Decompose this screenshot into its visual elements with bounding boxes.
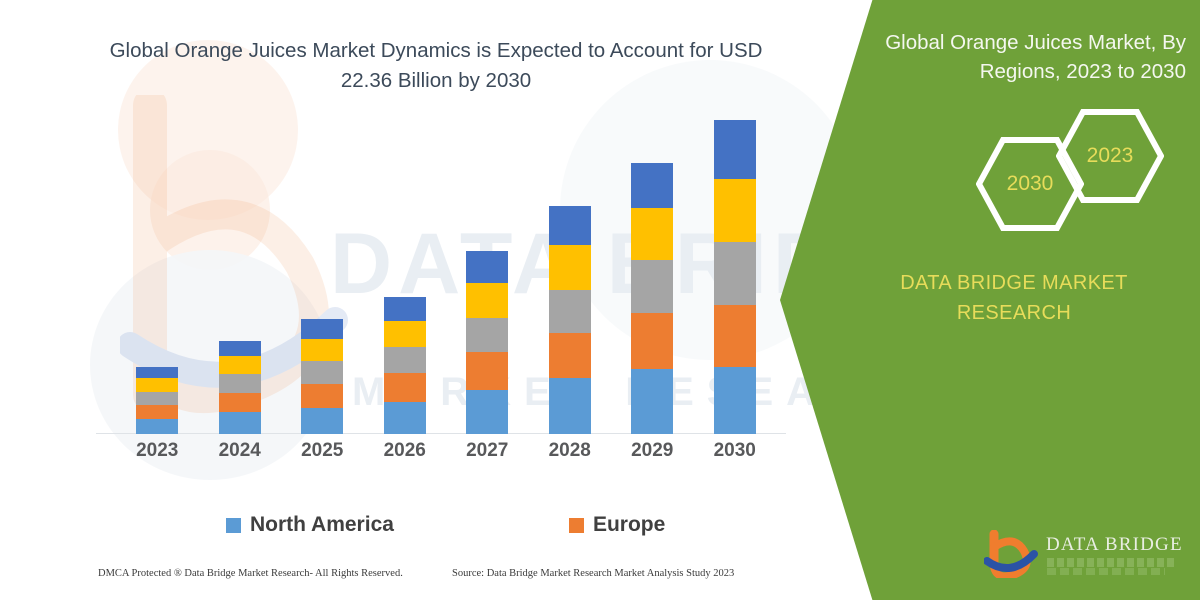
- bar-segment: [466, 251, 508, 282]
- stacked-bar-chart: 20232024202520262027202820292030: [96, 120, 786, 480]
- bar-segment: [136, 392, 178, 405]
- panel-title: Global Orange Juices Market, By Regions,…: [856, 28, 1186, 86]
- bar-group-2030: [694, 120, 777, 434]
- bar-group-2029: [611, 120, 694, 434]
- year-hexagon-group: 2030 2023: [940, 108, 1170, 223]
- chart-x-axis-labels: 20232024202520262027202820292030: [116, 440, 776, 468]
- x-axis-label-2026: 2026: [364, 440, 447, 468]
- bar-segment: [136, 405, 178, 419]
- bar-segment: [301, 319, 343, 339]
- bar-segment: [466, 352, 508, 389]
- bar-segment: [549, 245, 591, 289]
- footer-source: Source: Data Bridge Market Research Mark…: [452, 568, 734, 579]
- stacked-bar[interactable]: [301, 319, 343, 434]
- panel-brand-name: DATA BRIDGE MARKET RESEARCH: [874, 268, 1154, 328]
- panel-brand-line-1: DATA BRIDGE MARKET: [874, 268, 1154, 298]
- bar-segment: [549, 333, 591, 378]
- stacked-bar[interactable]: [384, 297, 426, 434]
- bar-segment: [631, 313, 673, 370]
- x-axis-label-2028: 2028: [529, 440, 612, 468]
- bar-segment: [631, 208, 673, 261]
- bar-segment: [714, 179, 756, 243]
- legend-label: North America: [250, 513, 394, 537]
- bar-segment: [384, 321, 426, 347]
- bar-segment: [219, 374, 261, 392]
- bar-group-2025: [281, 120, 364, 434]
- bar-segment: [714, 120, 756, 179]
- legend-swatch: [226, 518, 241, 533]
- bar-segment: [219, 412, 261, 434]
- legend-label: Europe: [593, 513, 665, 537]
- logo-wordmark: DATA BRIDGE: [1046, 534, 1183, 556]
- bar-segment: [384, 373, 426, 401]
- bar-segment: [301, 384, 343, 408]
- bar-segment: [466, 283, 508, 318]
- bar-segment: [136, 367, 178, 378]
- stacked-bar[interactable]: [136, 367, 178, 434]
- bar-segment: [136, 419, 178, 434]
- stacked-bar[interactable]: [714, 120, 756, 434]
- bar-segment: [631, 260, 673, 313]
- footer-copyright: DMCA Protected ® Data Bridge Market Rese…: [98, 568, 403, 579]
- bar-group-2028: [529, 120, 612, 434]
- legend-item[interactable]: Europe: [569, 513, 665, 537]
- bar-segment: [219, 356, 261, 374]
- bar-segment: [631, 163, 673, 207]
- bar-segment: [219, 341, 261, 356]
- bar-segment: [384, 297, 426, 321]
- stacked-bar[interactable]: [631, 163, 673, 434]
- bar-segment: [631, 369, 673, 434]
- bar-group-2026: [364, 120, 447, 434]
- hexagon-label-2030: 2030: [1007, 172, 1054, 196]
- x-axis-label-2025: 2025: [281, 440, 364, 468]
- bar-segment: [301, 408, 343, 434]
- legend-item[interactable]: North America: [226, 513, 394, 537]
- stacked-bar[interactable]: [219, 341, 261, 434]
- logo-tagline-line-1: [1047, 558, 1177, 567]
- legend-swatch: [569, 518, 584, 533]
- bar-segment: [384, 402, 426, 434]
- bar-group-2024: [199, 120, 282, 434]
- page-title: Global Orange Juices Market Dynamics is …: [96, 36, 776, 95]
- chart-legend: North AmericaEurope: [96, 508, 786, 542]
- bar-group-2023: [116, 120, 199, 434]
- hexagon-badge-2023: 2023: [1056, 108, 1164, 204]
- panel-brand-line-2: RESEARCH: [874, 298, 1154, 328]
- data-bridge-logo: DATA BRIDGE: [984, 528, 1184, 580]
- bar-segment: [301, 339, 343, 361]
- stacked-bar[interactable]: [549, 206, 591, 434]
- bar-segment: [136, 378, 178, 391]
- bar-segment: [549, 206, 591, 245]
- bar-segment: [714, 242, 756, 305]
- chart-bars: [116, 120, 776, 434]
- right-green-panel: Global Orange Juices Market, By Regions,…: [780, 0, 1200, 600]
- infographic-page: DATA BRIDGE MARKET RESEARCH Global Orang…: [0, 0, 1200, 600]
- logo-tagline-line-2: [1047, 568, 1165, 575]
- data-bridge-logo-icon: [984, 530, 1040, 578]
- bar-segment: [549, 378, 591, 434]
- bar-segment: [384, 347, 426, 373]
- bar-segment: [466, 318, 508, 352]
- hexagon-label-2023: 2023: [1087, 144, 1134, 168]
- x-axis-label-2027: 2027: [446, 440, 529, 468]
- x-axis-label-2029: 2029: [611, 440, 694, 468]
- bar-group-2027: [446, 120, 529, 434]
- bar-segment: [466, 390, 508, 434]
- bar-segment: [301, 361, 343, 383]
- x-axis-label-2023: 2023: [116, 440, 199, 468]
- bar-segment: [219, 393, 261, 412]
- bar-segment: [714, 367, 756, 434]
- stacked-bar[interactable]: [466, 251, 508, 434]
- x-axis-label-2030: 2030: [694, 440, 777, 468]
- bar-segment: [714, 305, 756, 368]
- bar-segment: [549, 290, 591, 333]
- x-axis-label-2024: 2024: [199, 440, 282, 468]
